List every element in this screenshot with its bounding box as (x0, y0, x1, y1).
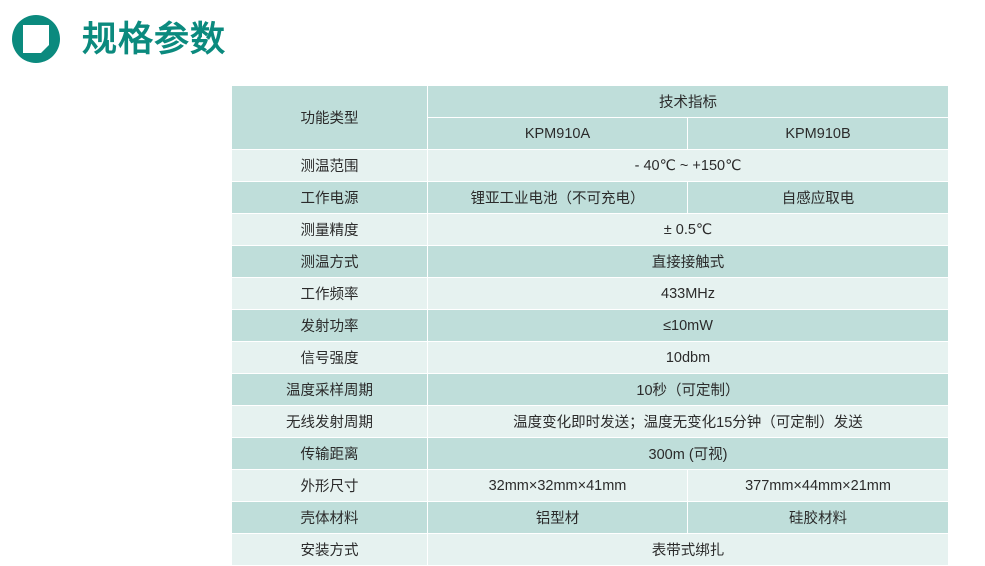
page-header: 规格参数 (0, 0, 985, 62)
row-label-cell: 温度采样周期 (232, 374, 428, 406)
table-header-row-group: 功能类型 技术指标 (232, 86, 949, 118)
row-label-cell: 测量精度 (232, 214, 428, 246)
row-value-cell: 300m (可视) (428, 438, 949, 470)
row-value-cell-b: 硅胶材料 (688, 502, 949, 534)
row-value-cell-b: 自感应取电 (688, 182, 949, 214)
row-value-cell: 直接接触式 (428, 246, 949, 278)
table-row: 传输距离300m (可视) (232, 438, 949, 470)
page-title: 规格参数 (82, 22, 226, 57)
table-row: 测温方式直接接触式 (232, 246, 949, 278)
table-row: 温度采样周期10秒（可定制） (232, 374, 949, 406)
table-row: 外形尺寸32mm×32mm×41mm377mm×44mm×21mm (232, 470, 949, 502)
table-row: 信号强度10dbm (232, 342, 949, 374)
header-model-a: KPM910A (428, 118, 688, 150)
row-label-cell: 无线发射周期 (232, 406, 428, 438)
table-row: 发射功率≤10mW (232, 310, 949, 342)
row-label-cell: 外形尺寸 (232, 470, 428, 502)
row-label-cell: 测温范围 (232, 150, 428, 182)
row-label-cell: 壳体材料 (232, 502, 428, 534)
table-row: 安装方式表带式绑扎 (232, 534, 949, 566)
row-value-cell-b: 377mm×44mm×21mm (688, 470, 949, 502)
row-value-cell: 表带式绑扎 (428, 534, 949, 566)
row-value-cell-a: 32mm×32mm×41mm (428, 470, 688, 502)
table-row: 工作频率433MHz (232, 278, 949, 310)
row-value-cell: ≤10mW (428, 310, 949, 342)
row-label-cell: 传输距离 (232, 438, 428, 470)
row-label-cell: 工作电源 (232, 182, 428, 214)
table-row: 测温范围- 40℃ ~ +150℃ (232, 150, 949, 182)
row-label-cell: 工作频率 (232, 278, 428, 310)
row-value-cell: 温度变化即时发送；温度无变化15分钟（可定制）发送 (428, 406, 949, 438)
row-label-cell: 测温方式 (232, 246, 428, 278)
row-value-cell: ± 0.5℃ (428, 214, 949, 246)
row-label-cell: 发射功率 (232, 310, 428, 342)
header-model-b: KPM910B (688, 118, 949, 150)
header-label-cell: 功能类型 (232, 86, 428, 150)
spec-table-container: 功能类型 技术指标 KPM910A KPM910B 测温范围- 40℃ ~ +1… (231, 85, 948, 566)
table-row: 工作电源锂亚工业电池（不可充电）自感应取电 (232, 182, 949, 214)
row-value-cell: - 40℃ ~ +150℃ (428, 150, 949, 182)
table-row: 壳体材料铝型材硅胶材料 (232, 502, 949, 534)
spec-table-body: 功能类型 技术指标 KPM910A KPM910B 测温范围- 40℃ ~ +1… (232, 86, 949, 566)
row-value-cell-a: 锂亚工业电池（不可充电） (428, 182, 688, 214)
row-value-cell: 10秒（可定制） (428, 374, 949, 406)
row-label-cell: 信号强度 (232, 342, 428, 374)
table-row: 无线发射周期温度变化即时发送；温度无变化15分钟（可定制）发送 (232, 406, 949, 438)
row-value-cell: 433MHz (428, 278, 949, 310)
row-value-cell: 10dbm (428, 342, 949, 374)
document-page-icon (12, 15, 60, 63)
header-group-title: 技术指标 (428, 86, 949, 118)
table-row: 测量精度± 0.5℃ (232, 214, 949, 246)
row-label-cell: 安装方式 (232, 534, 428, 566)
specification-table: 功能类型 技术指标 KPM910A KPM910B 测温范围- 40℃ ~ +1… (231, 85, 949, 566)
row-value-cell-a: 铝型材 (428, 502, 688, 534)
